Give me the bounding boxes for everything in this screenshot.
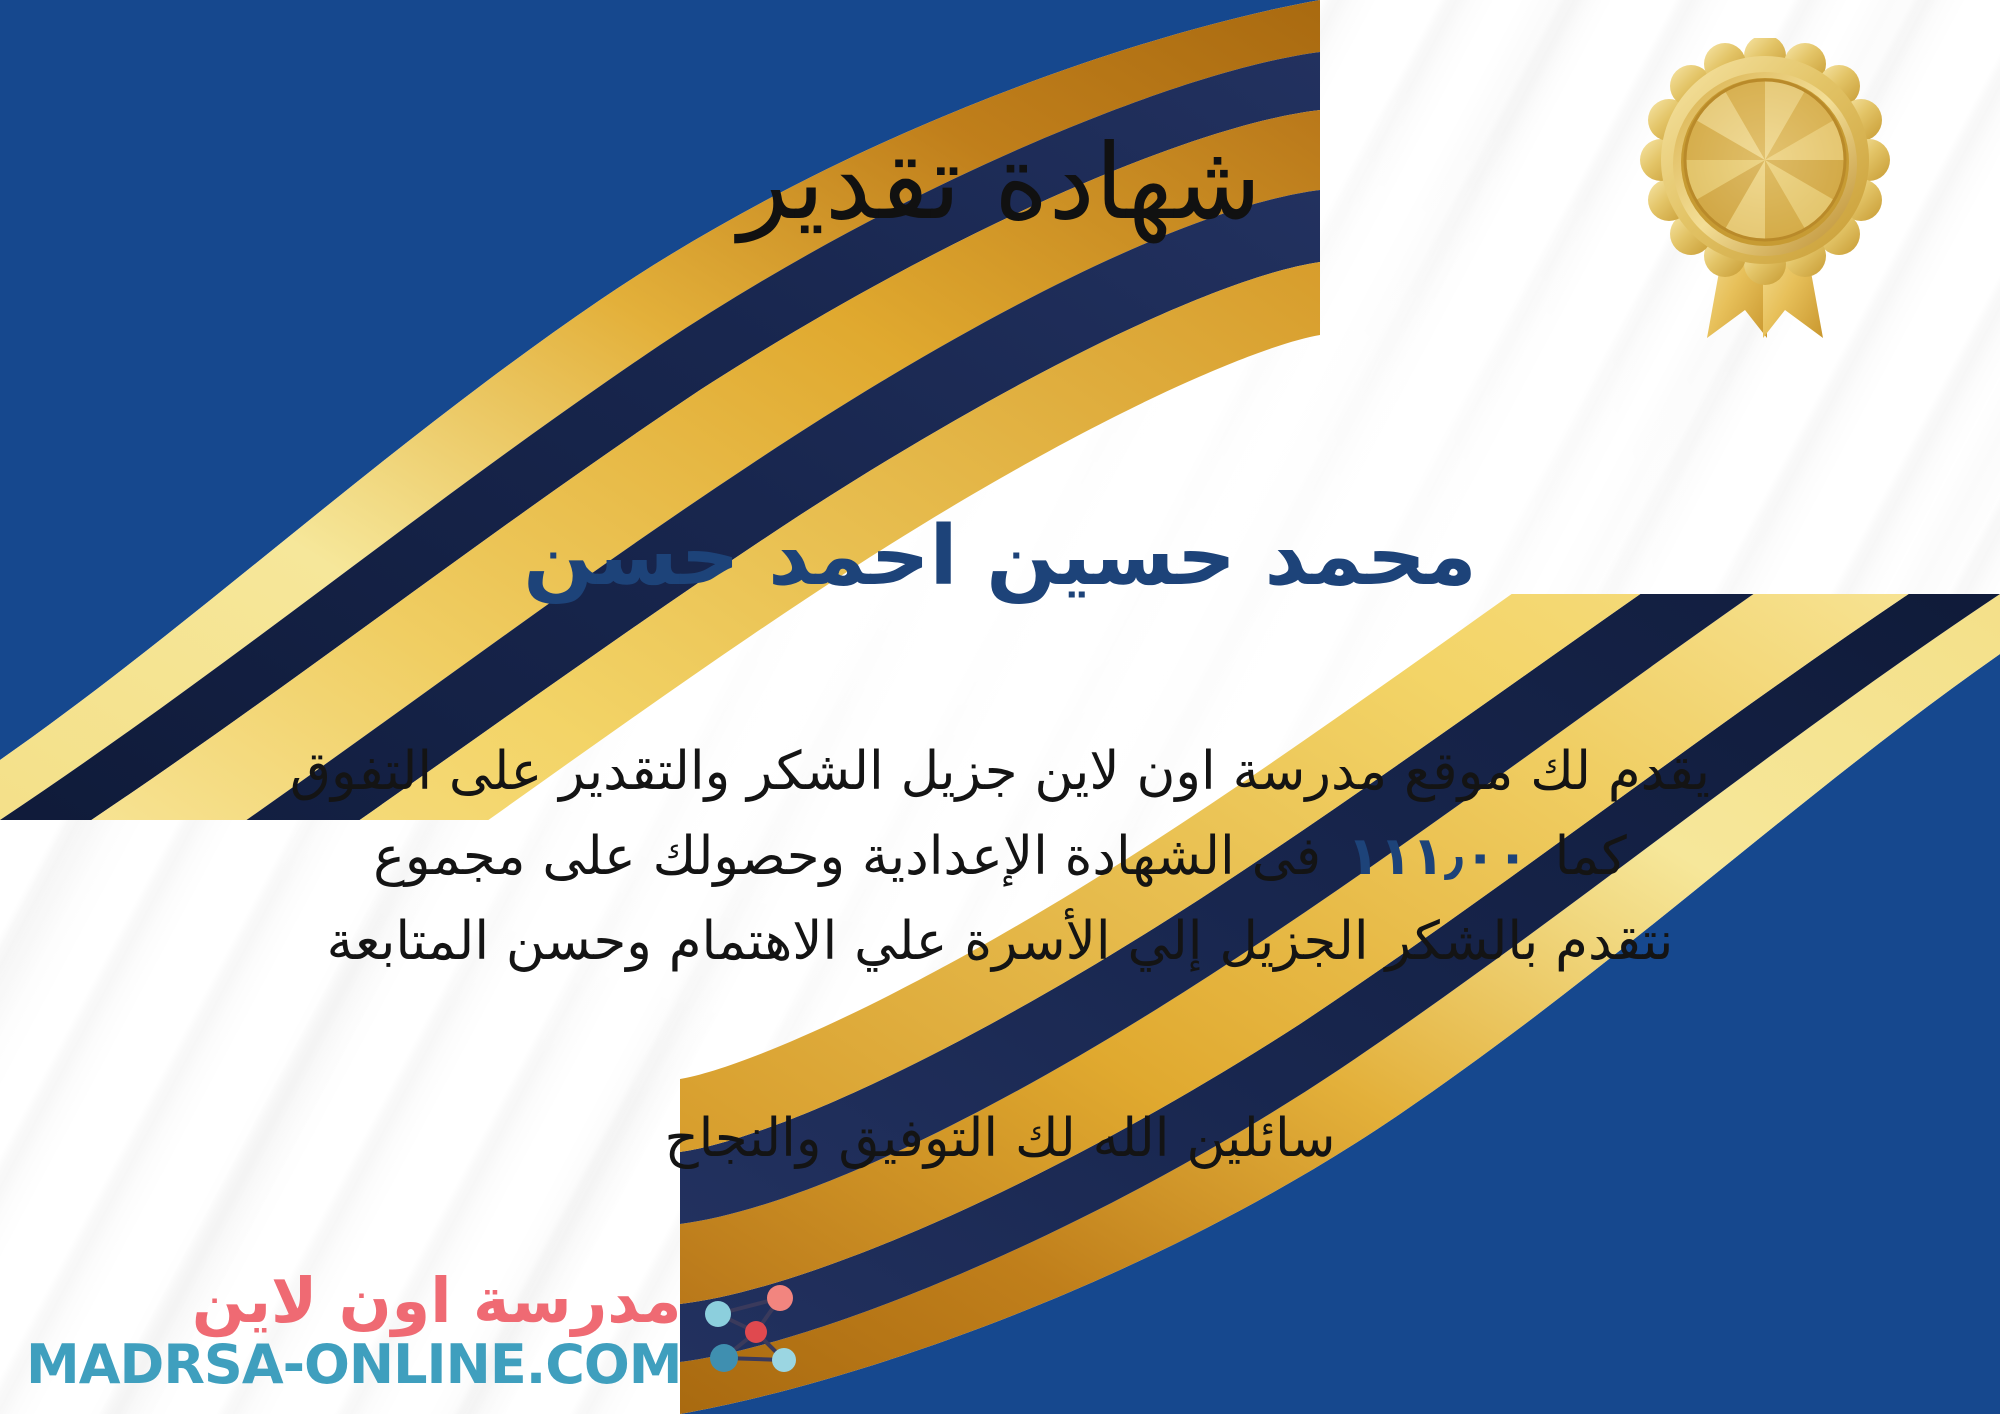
body-line-2-suffix: كما xyxy=(1555,826,1627,887)
certificate-page: شهادة تقدير محمد حسين احمد حسن يقدم لك م… xyxy=(0,0,2000,1414)
student-name: محمد حسين احمد حسن xyxy=(0,512,2000,602)
grade-total-value: ١١١٫٠٠ xyxy=(1321,826,1555,887)
closing-wish: سائلين الله لك التوفيق والنجاح xyxy=(0,1108,2000,1169)
certificate-body: يقدم لك موقع مدرسة اون لاين جزيل الشكر و… xyxy=(60,730,1940,984)
brand-arabic-name: مدرسة اون لاين xyxy=(192,1270,682,1332)
brand-logo-text: مدرسة اون لاين MADRSA-ONLINE.COM xyxy=(26,1270,682,1392)
brand-logo[interactable]: مدرسة اون لاين MADRSA-ONLINE.COM xyxy=(26,1270,806,1392)
brand-website-url: MADRSA-ONLINE.COM xyxy=(26,1338,682,1392)
certificate-content: شهادة تقدير محمد حسين احمد حسن يقدم لك م… xyxy=(0,0,2000,1414)
body-line-1: يقدم لك موقع مدرسة اون لاين جزيل الشكر و… xyxy=(60,730,1940,815)
page-title: شهادة تقدير xyxy=(0,128,2000,237)
body-line-2-prefix: فى الشهادة الإعدادية وحصولك على مجموع xyxy=(373,826,1321,887)
body-line-3: نتقدم بالشكر الجزيل إلي الأسرة علي الاهت… xyxy=(60,900,1940,985)
body-line-2: كما١١١٫٠٠فى الشهادة الإعدادية وحصولك على… xyxy=(60,815,1940,900)
network-nodes-icon xyxy=(696,1276,806,1386)
